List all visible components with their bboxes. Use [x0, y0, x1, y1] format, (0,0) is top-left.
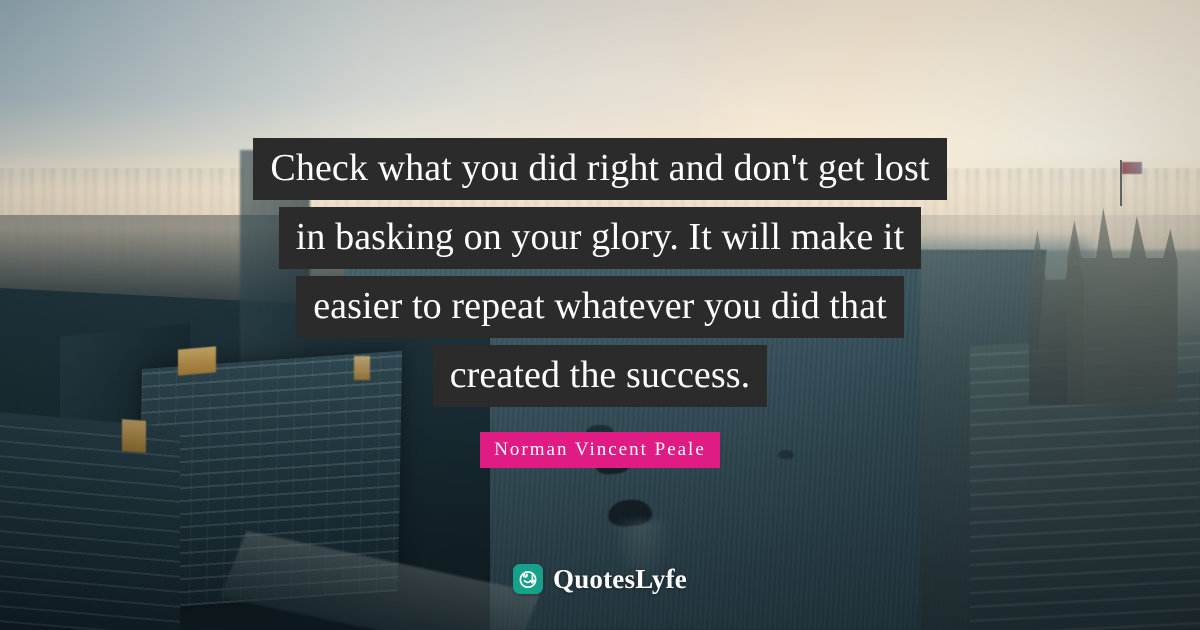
quote-line: Check what you did right and don't get l… — [253, 138, 946, 200]
quote-line: easier to repeat whatever you did that — [296, 276, 904, 338]
quote-block: Check what you did right and don't get l… — [0, 138, 1200, 407]
author-wrapper: Norman Vincent Peale — [480, 432, 720, 468]
quote-line: created the success. — [433, 345, 768, 407]
author-badge[interactable]: Norman Vincent Peale — [480, 432, 720, 468]
quote-smiley-icon — [513, 564, 543, 594]
quote-line: in basking on your glory. It will make i… — [279, 207, 922, 269]
brand-footer[interactable]: QuotesLyfe — [0, 564, 1200, 594]
quote-card: Check what you did right and don't get l… — [0, 0, 1200, 630]
brand-name: QuotesLyfe — [553, 566, 687, 593]
card-content: Check what you did right and don't get l… — [0, 0, 1200, 630]
